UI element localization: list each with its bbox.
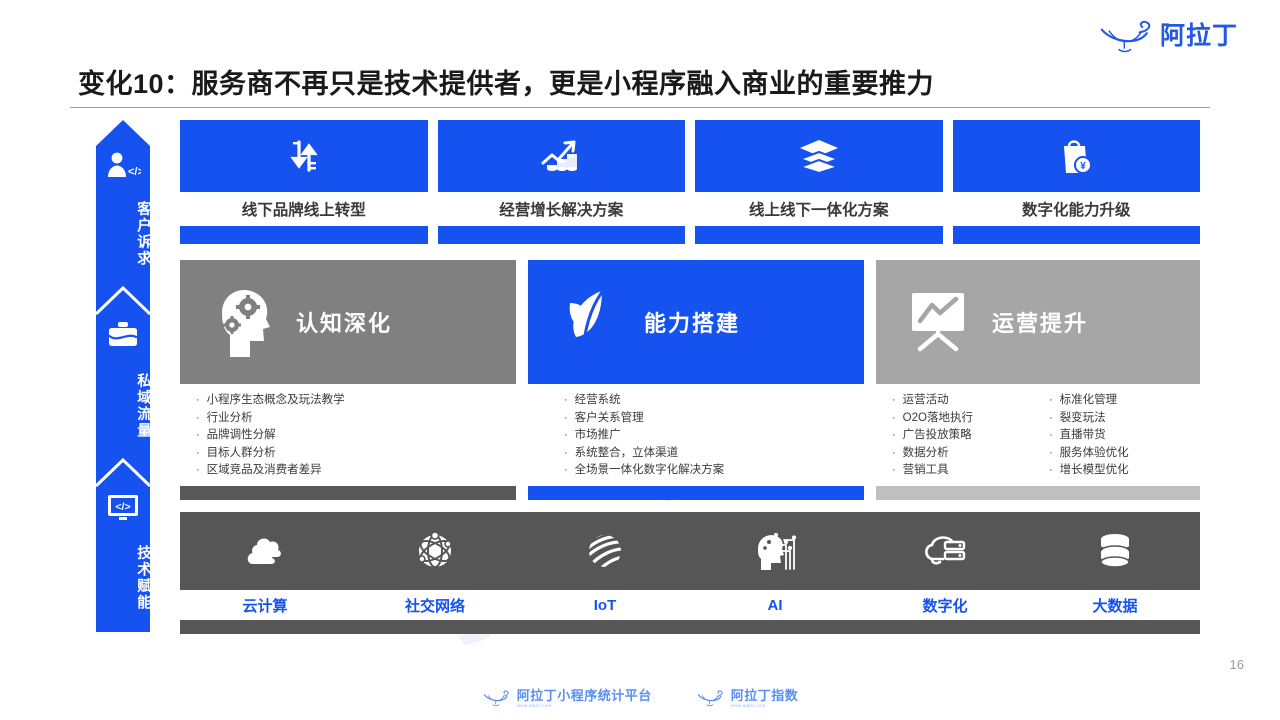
footer-logo-name-0: 阿拉丁小程序统计平台 xyxy=(517,689,652,702)
bullet-text: 标准化管理 xyxy=(1060,392,1118,409)
bullet-text: O2O落地执行 xyxy=(903,410,973,427)
demand-card-2[interactable]: 线上线下一体化方案 xyxy=(695,120,943,244)
tech-icon-cell-1[interactable] xyxy=(350,512,520,590)
capability-title-2: 运营提升 xyxy=(992,306,1088,338)
bullet-dot-icon: · xyxy=(892,392,896,409)
bullet-text: 直播带货 xyxy=(1060,427,1106,444)
bullet-item: ·行业分析 xyxy=(196,410,516,427)
demand-card-row: 线下品牌线上转型 经营增长解决方案 xyxy=(180,120,1200,244)
tech-label-0: 云计算 xyxy=(180,590,350,620)
bullet-text: 经营系统 xyxy=(575,392,621,409)
capability-bullet-col-2-1: ·标准化管理 ·裂变玩法 ·直播带货 ·服务体验优化 ·增长模型优化 xyxy=(1049,392,1200,486)
aladdin-lamp-icon xyxy=(1100,18,1154,54)
tech-label-2: IoT xyxy=(520,590,690,620)
capability-header-0: 认知深化 xyxy=(180,260,516,384)
demand-card-foot-1 xyxy=(438,226,686,244)
bullet-item: ·系统整合，立体渠道 xyxy=(564,445,864,462)
page-number: 16 xyxy=(1230,657,1244,672)
svg-text:</>: </> xyxy=(115,501,130,513)
stage-label-1: 私域流量 xyxy=(96,358,150,454)
stage-label-2: 技术赋能 xyxy=(96,530,150,626)
bullet-text: 广告投放策略 xyxy=(903,427,972,444)
capability-title-0: 认知深化 xyxy=(296,306,392,338)
demand-card-foot-0 xyxy=(180,226,428,244)
bullet-text: 运营活动 xyxy=(903,392,949,409)
capability-body-0: ·小程序生态概念及玩法教学 ·行业分析 ·品牌调性分解 ·目标人群分析 ·区域竞… xyxy=(180,384,516,486)
bullet-dot-icon: · xyxy=(564,427,568,444)
tech-icon-cell-5[interactable] xyxy=(1030,512,1200,590)
demand-icon-box-3: ¥ xyxy=(953,120,1201,192)
demand-card-label-3: 数字化能力升级 xyxy=(953,192,1201,226)
capability-panel-2[interactable]: 运营提升 ·运营活动 ·O2O落地执行 ·广告投放策略 ·数据分析 ·营销工具 … xyxy=(876,260,1200,500)
bullet-text: 区域竞品及消费者差异 xyxy=(207,462,322,479)
svg-text:</>: </> xyxy=(128,166,141,178)
briefcase-icon xyxy=(107,321,139,349)
capability-bullet-col-2-0: ·运营活动 ·O2O落地执行 ·广告投放策略 ·数据分析 ·营销工具 xyxy=(892,392,1043,486)
footer-logo-1: 阿拉丁指数 www.aldzs.com xyxy=(696,689,799,709)
demand-card-3[interactable]: ¥ 数字化能力升级 xyxy=(953,120,1201,244)
bullet-text: 品牌调性分解 xyxy=(207,427,276,444)
aladdin-lamp-icon xyxy=(696,689,726,707)
demand-card-0[interactable]: 线下品牌线上转型 xyxy=(180,120,428,244)
technology-label-bar: 云计算 社交网络 IoT AI 数字化 大数据 xyxy=(180,590,1200,620)
bullet-text: 客户关系管理 xyxy=(575,410,644,427)
technology-foot-bar xyxy=(180,620,1200,634)
technology-section: 云计算 社交网络 IoT AI 数字化 大数据 xyxy=(180,512,1200,634)
bullet-text: 增长模型优化 xyxy=(1060,462,1129,479)
stage-label-0: 客户诉求 xyxy=(96,186,150,282)
tech-icon-cell-3[interactable] xyxy=(690,512,860,590)
bullet-text: 服务体验优化 xyxy=(1060,445,1129,462)
bullet-item: ·全场景一体化数字化解决方案 xyxy=(564,462,864,479)
brand-logo-text: 阿拉丁 xyxy=(1160,24,1238,49)
capability-foot-2 xyxy=(876,486,1200,500)
capability-foot-0 xyxy=(180,486,516,500)
stage-rail: </> 客户诉求 私域流量 </> 技术赋能 xyxy=(96,120,150,632)
bullet-item: ·营销工具 xyxy=(892,462,1043,479)
brand-logo: 阿拉丁 xyxy=(1100,18,1238,54)
head-gears-icon xyxy=(208,279,282,365)
capability-body-2: ·运营活动 ·O2O落地执行 ·广告投放策略 ·数据分析 ·营销工具 ·标准化管… xyxy=(876,384,1200,486)
leaf-icon xyxy=(556,279,630,365)
tech-label-1: 社交网络 xyxy=(350,590,520,620)
user-code-icon: </> xyxy=(105,150,141,178)
bullet-item: ·服务体验优化 xyxy=(1049,445,1200,462)
bullet-dot-icon: · xyxy=(1049,445,1053,462)
demand-card-label-0: 线下品牌线上转型 xyxy=(180,192,428,226)
bullet-item: ·市场推广 xyxy=(564,427,864,444)
demand-icon-box-1 xyxy=(438,120,686,192)
stage-icon-1 xyxy=(96,318,150,352)
slide-canvas: 阿 拉 丁 阿拉丁 变化10：服务商不再只是技术提供者，更是小程序融入商业的重要… xyxy=(0,0,1280,720)
bullet-item: ·经营系统 xyxy=(564,392,864,409)
tech-icon-cell-0[interactable] xyxy=(180,512,350,590)
social-network-globe-icon xyxy=(413,529,457,573)
tech-label-3: AI xyxy=(690,590,860,620)
capability-panel-row: 认知深化 ·小程序生态概念及玩法教学 ·行业分析 ·品牌调性分解 ·目标人群分析… xyxy=(180,260,1200,500)
bullet-text: 系统整合，立体渠道 xyxy=(575,445,679,462)
bullet-item: ·广告投放策略 xyxy=(892,427,1043,444)
bullet-dot-icon: · xyxy=(892,445,896,462)
bullet-item: ·运营活动 xyxy=(892,392,1043,409)
bullet-dot-icon: · xyxy=(564,410,568,427)
footer-logo-name-1: 阿拉丁指数 xyxy=(731,689,799,702)
tech-label-5: 大数据 xyxy=(1030,590,1200,620)
capability-header-1: 能力搭建 xyxy=(528,260,864,384)
bullet-dot-icon: · xyxy=(196,410,200,427)
demand-card-label-1: 经营增长解决方案 xyxy=(438,192,686,226)
bullet-dot-icon: · xyxy=(1049,392,1053,409)
bullet-dot-icon: · xyxy=(196,462,200,479)
demand-icon-box-2 xyxy=(695,120,943,192)
database-icon xyxy=(1094,531,1136,571)
bullet-text: 营销工具 xyxy=(903,462,949,479)
bullet-text: 数据分析 xyxy=(903,445,949,462)
footer-logo-text-1: 阿拉丁指数 www.aldzs.com xyxy=(731,689,799,709)
bullet-dot-icon: · xyxy=(196,445,200,462)
capability-bullet-col-0-0: ·小程序生态概念及玩法教学 ·行业分析 ·品牌调性分解 ·目标人群分析 ·区域竞… xyxy=(196,392,516,486)
capability-panel-0[interactable]: 认知深化 ·小程序生态概念及玩法教学 ·行业分析 ·品牌调性分解 ·目标人群分析… xyxy=(180,260,516,500)
transfer-arrows-icon xyxy=(284,136,324,176)
iot-sphere-icon xyxy=(584,530,626,572)
bullet-dot-icon: · xyxy=(1049,462,1053,479)
bullet-dot-icon: · xyxy=(564,392,568,409)
bullet-item: ·小程序生态概念及玩法教学 xyxy=(196,392,516,409)
growth-chart-coins-icon xyxy=(539,136,583,176)
bullet-text: 行业分析 xyxy=(207,410,253,427)
capability-title-1: 能力搭建 xyxy=(644,306,740,338)
bullet-dot-icon: · xyxy=(564,462,568,479)
tech-icon-cell-4[interactable] xyxy=(860,512,1030,590)
bullet-text: 全场景一体化数字化解决方案 xyxy=(575,462,725,479)
title-divider xyxy=(70,107,1210,108)
bullet-item: ·客户关系管理 xyxy=(564,410,864,427)
bullet-item: ·数据分析 xyxy=(892,445,1043,462)
bullet-item: ·标准化管理 xyxy=(1049,392,1200,409)
bullet-item: ·增长模型优化 xyxy=(1049,462,1200,479)
footer-logo-0: 阿拉丁小程序统计平台 www.aldzs.com xyxy=(482,689,652,709)
bullet-dot-icon: · xyxy=(1049,410,1053,427)
bullet-item: ·品牌调性分解 xyxy=(196,427,516,444)
monitor-code-icon: </> xyxy=(106,493,140,523)
aladdin-lamp-icon xyxy=(482,689,512,707)
bullet-dot-icon: · xyxy=(1049,427,1053,444)
cloud-server-icon xyxy=(921,531,969,571)
footer-logos: 阿拉丁小程序统计平台 www.aldzs.com 阿拉丁指数 www.aldzs… xyxy=(0,689,1280,709)
bullet-item: ·O2O落地执行 xyxy=(892,410,1043,427)
capability-panel-1[interactable]: 能力搭建 ·经营系统 ·客户关系管理 ·市场推广 ·系统整合，立体渠道 ·全场景… xyxy=(528,260,864,500)
bullet-dot-icon: · xyxy=(892,462,896,479)
tech-icon-cell-2[interactable] xyxy=(520,512,690,590)
bullet-text: 裂变玩法 xyxy=(1060,410,1106,427)
bullet-dot-icon: · xyxy=(196,392,200,409)
demand-card-label-2: 线上线下一体化方案 xyxy=(695,192,943,226)
capability-bullet-col-1-0: ·经营系统 ·客户关系管理 ·市场推广 ·系统整合，立体渠道 ·全场景一体化数字… xyxy=(564,392,864,486)
demand-icon-box-0 xyxy=(180,120,428,192)
capability-header-2: 运营提升 xyxy=(876,260,1200,384)
demand-card-foot-2 xyxy=(695,226,943,244)
capability-body-1: ·经营系统 ·客户关系管理 ·市场推广 ·系统整合，立体渠道 ·全场景一体化数字… xyxy=(528,384,864,486)
bullet-item: ·裂变玩法 xyxy=(1049,410,1200,427)
bullet-dot-icon: · xyxy=(892,427,896,444)
shopping-bag-yuan-icon: ¥ xyxy=(1058,136,1094,176)
bullet-text: 市场推广 xyxy=(575,427,621,444)
capability-foot-1 xyxy=(528,486,864,500)
demand-card-foot-3 xyxy=(953,226,1201,244)
svg-text:¥: ¥ xyxy=(1080,161,1086,172)
bullet-dot-icon: · xyxy=(892,410,896,427)
layers-icon xyxy=(797,137,841,175)
stage-icon-2: </> xyxy=(96,490,150,526)
footer-logo-text-0: 阿拉丁小程序统计平台 www.aldzs.com xyxy=(517,689,652,709)
ai-brain-circuit-icon xyxy=(752,529,798,573)
footer-logo-url-0: www.aldzs.com xyxy=(517,704,652,709)
demand-card-1[interactable]: 经营增长解决方案 xyxy=(438,120,686,244)
bullet-text: 目标人群分析 xyxy=(207,445,276,462)
bullet-text: 小程序生态概念及玩法教学 xyxy=(207,392,345,409)
technology-icon-bar xyxy=(180,512,1200,590)
bullet-item: ·区域竞品及消费者差异 xyxy=(196,462,516,479)
bullet-item: ·直播带货 xyxy=(1049,427,1200,444)
page-title: 变化10：服务商不再只是技术提供者，更是小程序融入商业的重要推力 xyxy=(78,62,934,101)
cloud-icon xyxy=(241,531,289,571)
bullet-dot-icon: · xyxy=(196,427,200,444)
tech-label-4: 数字化 xyxy=(860,590,1030,620)
presentation-chart-icon xyxy=(904,279,978,365)
footer-logo-url-1: www.aldzs.com xyxy=(731,704,799,709)
bullet-item: ·目标人群分析 xyxy=(196,445,516,462)
stage-icon-0: </> xyxy=(96,146,150,182)
bullet-dot-icon: · xyxy=(564,445,568,462)
